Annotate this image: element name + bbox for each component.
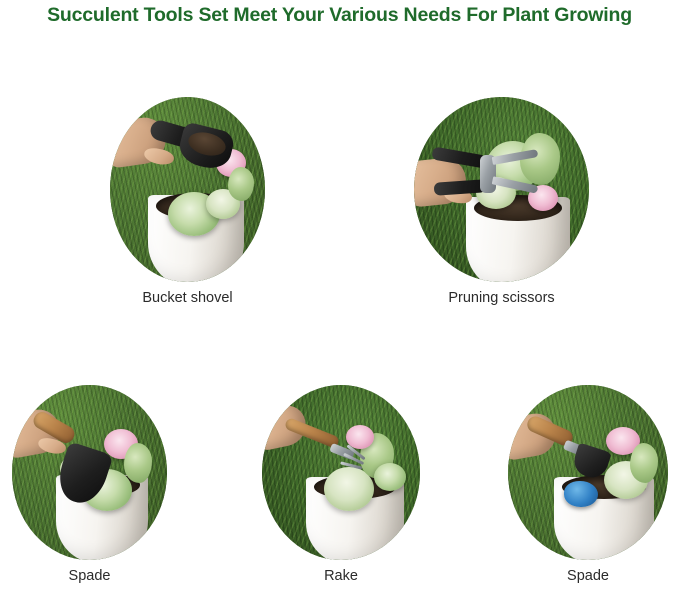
tile-pruning-scissors: Pruning scissors — [414, 97, 589, 306]
page-title: Succulent Tools Set Meet Your Various Ne… — [0, 4, 679, 27]
product-infographic: Succulent Tools Set Meet Your Various Ne… — [0, 0, 679, 612]
succulent-plant — [228, 167, 254, 201]
photo-spade-left — [12, 385, 167, 560]
photo-bucket-shovel — [110, 97, 265, 282]
photo-pruning-scissors — [414, 97, 589, 282]
tile-bucket-shovel: Bucket shovel — [110, 97, 265, 306]
tile-caption: Spade — [12, 568, 167, 584]
succulent-plant — [374, 463, 406, 491]
tile-caption: Spade — [508, 568, 668, 584]
blue-stones — [564, 481, 598, 507]
photo-rake — [262, 385, 420, 560]
tile-spade-left: Spade — [12, 385, 167, 584]
tile-rake: Rake — [262, 385, 420, 584]
tile-spade-right: Spade — [508, 385, 668, 584]
photo-spade-right — [508, 385, 668, 560]
tile-caption: Pruning scissors — [414, 290, 589, 306]
succulent-plant — [630, 443, 658, 483]
tile-caption: Rake — [262, 568, 420, 584]
tile-caption: Bucket shovel — [110, 290, 265, 306]
succulent-plant — [124, 443, 152, 483]
